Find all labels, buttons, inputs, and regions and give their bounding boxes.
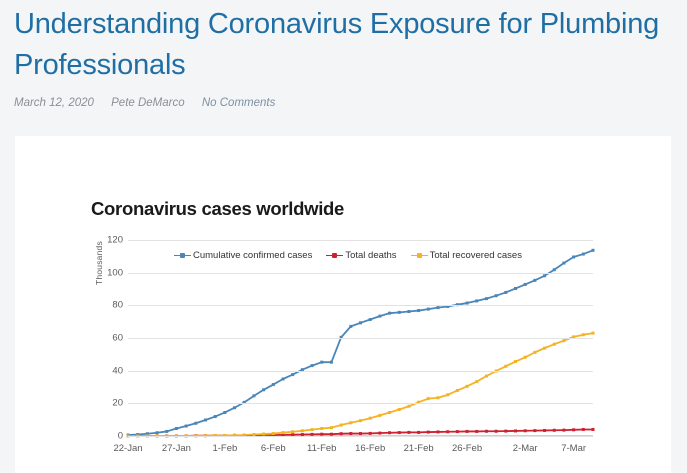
- chart-data-point: [340, 424, 343, 427]
- chart-data-point: [320, 427, 323, 430]
- chart-data-point: [359, 321, 362, 324]
- chart-data-point: [359, 419, 362, 422]
- chart-data-point: [524, 283, 527, 286]
- chart-data-point: [514, 429, 517, 432]
- chart-data-point: [311, 364, 314, 367]
- chart-data-point: [485, 375, 488, 378]
- chart-data-point: [553, 268, 556, 271]
- chart-data-point: [388, 312, 391, 315]
- x-axis-tick-label: 21-Feb: [404, 443, 434, 454]
- chart-data-point: [543, 429, 546, 432]
- chart-data-point: [533, 351, 536, 354]
- chart-data-point: [204, 418, 207, 421]
- post-meta: March 12, 2020 Pete DeMarco No Comments: [14, 97, 674, 109]
- chart-data-point: [349, 421, 352, 424]
- chart-data-point: [156, 431, 159, 434]
- gridline: 80: [128, 305, 593, 306]
- chart-data-point: [456, 430, 459, 433]
- y-axis-tick-label: 0: [118, 431, 123, 442]
- x-axis-tick-label: 16-Feb: [355, 443, 385, 454]
- chart-data-point: [291, 373, 294, 376]
- chart-data-point: [533, 279, 536, 282]
- chart-data-point: [359, 432, 362, 435]
- chart-data-point: [340, 432, 343, 435]
- chart-title: Coronavirus cases worldwide: [91, 198, 344, 220]
- y-axis-title: Thousands: [94, 228, 104, 298]
- chart-data-point: [417, 431, 420, 434]
- y-axis-tick-label: 120: [107, 235, 123, 246]
- chart-data-point: [165, 430, 168, 433]
- y-axis-tick-label: 100: [107, 267, 123, 278]
- chart-data-point: [504, 291, 507, 294]
- chart-data-point: [311, 428, 314, 431]
- post-author[interactable]: Pete DeMarco: [111, 97, 185, 109]
- chart-figure: Coronavirus cases worldwide Thousands Cu…: [78, 136, 608, 473]
- chart-data-point: [282, 431, 285, 434]
- chart-data-point: [504, 365, 507, 368]
- chart-data-point: [330, 361, 333, 364]
- post-comments-link[interactable]: No Comments: [202, 97, 276, 109]
- gridline: 120: [128, 240, 593, 241]
- chart-data-point: [427, 397, 430, 400]
- chart-data-point: [485, 297, 488, 300]
- article-page: Understanding Coronavirus Exposure for P…: [0, 0, 687, 473]
- x-axis-tick-label: 22-Jan: [113, 443, 142, 454]
- chart-data-point: [466, 430, 469, 433]
- chart-data-point: [446, 430, 449, 433]
- chart-data-point: [417, 309, 420, 312]
- chart-data-point: [562, 429, 565, 432]
- chart-data-point: [214, 415, 217, 418]
- chart-data-point: [514, 360, 517, 363]
- chart-plot-area: 02040608010012022-Jan27-Jan1-Feb6-Feb11-…: [128, 240, 593, 436]
- chart-data-point: [437, 430, 440, 433]
- chart-data-point: [272, 383, 275, 386]
- chart-data-point: [369, 432, 372, 435]
- chart-data-point: [475, 380, 478, 383]
- chart-data-point: [475, 430, 478, 433]
- x-axis-tick-label: 27-Jan: [162, 443, 191, 454]
- chart-data-point: [330, 426, 333, 429]
- gridline: 20: [128, 403, 593, 404]
- chart-data-point: [446, 393, 449, 396]
- chart-data-point: [378, 315, 381, 318]
- chart-data-point: [378, 432, 381, 435]
- y-axis-tick-label: 40: [112, 365, 123, 376]
- y-axis-tick-label: 60: [112, 333, 123, 344]
- chart-data-point: [543, 274, 546, 277]
- chart-data-point: [437, 306, 440, 309]
- chart-data-point: [495, 294, 498, 297]
- chart-data-point: [175, 427, 178, 430]
- chart-data-point: [291, 430, 294, 433]
- chart-data-point: [262, 388, 265, 391]
- chart-data-point: [592, 428, 595, 431]
- y-axis-tick-label: 80: [112, 300, 123, 311]
- chart-data-point: [185, 425, 188, 428]
- gridline: 100: [128, 273, 593, 274]
- chart-data-point: [582, 333, 585, 336]
- chart-data-point: [407, 405, 410, 408]
- chart-data-point: [369, 318, 372, 321]
- chart-data-point: [533, 429, 536, 432]
- chart-data-point: [495, 430, 498, 433]
- chart-data-point: [398, 311, 401, 314]
- gridline: 0: [128, 436, 593, 437]
- chart-data-point: [223, 411, 226, 414]
- chart-data-point: [194, 422, 197, 425]
- post-date: March 12, 2020: [14, 97, 94, 109]
- chart-data-point: [301, 429, 304, 432]
- y-axis-tick-label: 20: [112, 398, 123, 409]
- article-content-card: Coronavirus cases worldwide Thousands Cu…: [15, 136, 671, 473]
- gridline: 60: [128, 338, 593, 339]
- chart-data-point: [388, 431, 391, 434]
- page-title: Understanding Coronavirus Exposure for P…: [14, 4, 674, 86]
- chart-data-point: [553, 343, 556, 346]
- chart-data-point: [592, 332, 595, 335]
- chart-data-point: [407, 310, 410, 313]
- chart-data-point: [572, 428, 575, 431]
- chart-data-point: [466, 385, 469, 388]
- x-axis-tick-label: 1-Feb: [212, 443, 237, 454]
- chart-data-point: [456, 389, 459, 392]
- chart-data-point: [369, 417, 372, 420]
- chart-data-point: [427, 308, 430, 311]
- chart-data-point: [388, 411, 391, 414]
- chart-data-point: [282, 378, 285, 381]
- chart-data-point: [427, 431, 430, 434]
- chart-data-point: [252, 394, 255, 397]
- chart-data-point: [485, 430, 488, 433]
- chart-data-point: [562, 339, 565, 342]
- gridline: 40: [128, 371, 593, 372]
- chart-data-point: [524, 429, 527, 432]
- article-header: Understanding Coronavirus Exposure for P…: [14, 4, 674, 109]
- chart-data-point: [407, 431, 410, 434]
- x-axis-tick-label: 2-Mar: [513, 443, 538, 454]
- chart-data-point: [592, 249, 595, 252]
- chart-line: [128, 250, 593, 435]
- chart-data-point: [524, 356, 527, 359]
- chart-data-point: [514, 287, 517, 290]
- chart-data-point: [349, 432, 352, 435]
- chart-data-point: [466, 302, 469, 305]
- x-axis-tick-label: 7-Mar: [561, 443, 586, 454]
- chart-data-point: [320, 361, 323, 364]
- chart-data-point: [582, 428, 585, 431]
- chart-data-point: [437, 396, 440, 399]
- chart-data-point: [553, 429, 556, 432]
- x-axis-tick-label: 6-Feb: [261, 443, 286, 454]
- chart-data-point: [378, 414, 381, 417]
- chart-data-point: [475, 299, 478, 302]
- x-axis-tick-label: 11-Feb: [307, 443, 336, 454]
- chart-data-point: [543, 347, 546, 350]
- chart-data-point: [233, 406, 236, 409]
- chart-data-point: [398, 431, 401, 434]
- chart-data-point: [272, 432, 275, 435]
- chart-data-point: [582, 253, 585, 256]
- chart-data-point: [349, 325, 352, 328]
- chart-data-point: [572, 255, 575, 258]
- chart-data-point: [398, 408, 401, 411]
- chart-data-point: [562, 262, 565, 265]
- x-axis-tick-label: 26-Feb: [452, 443, 482, 454]
- chart-data-point: [504, 430, 507, 433]
